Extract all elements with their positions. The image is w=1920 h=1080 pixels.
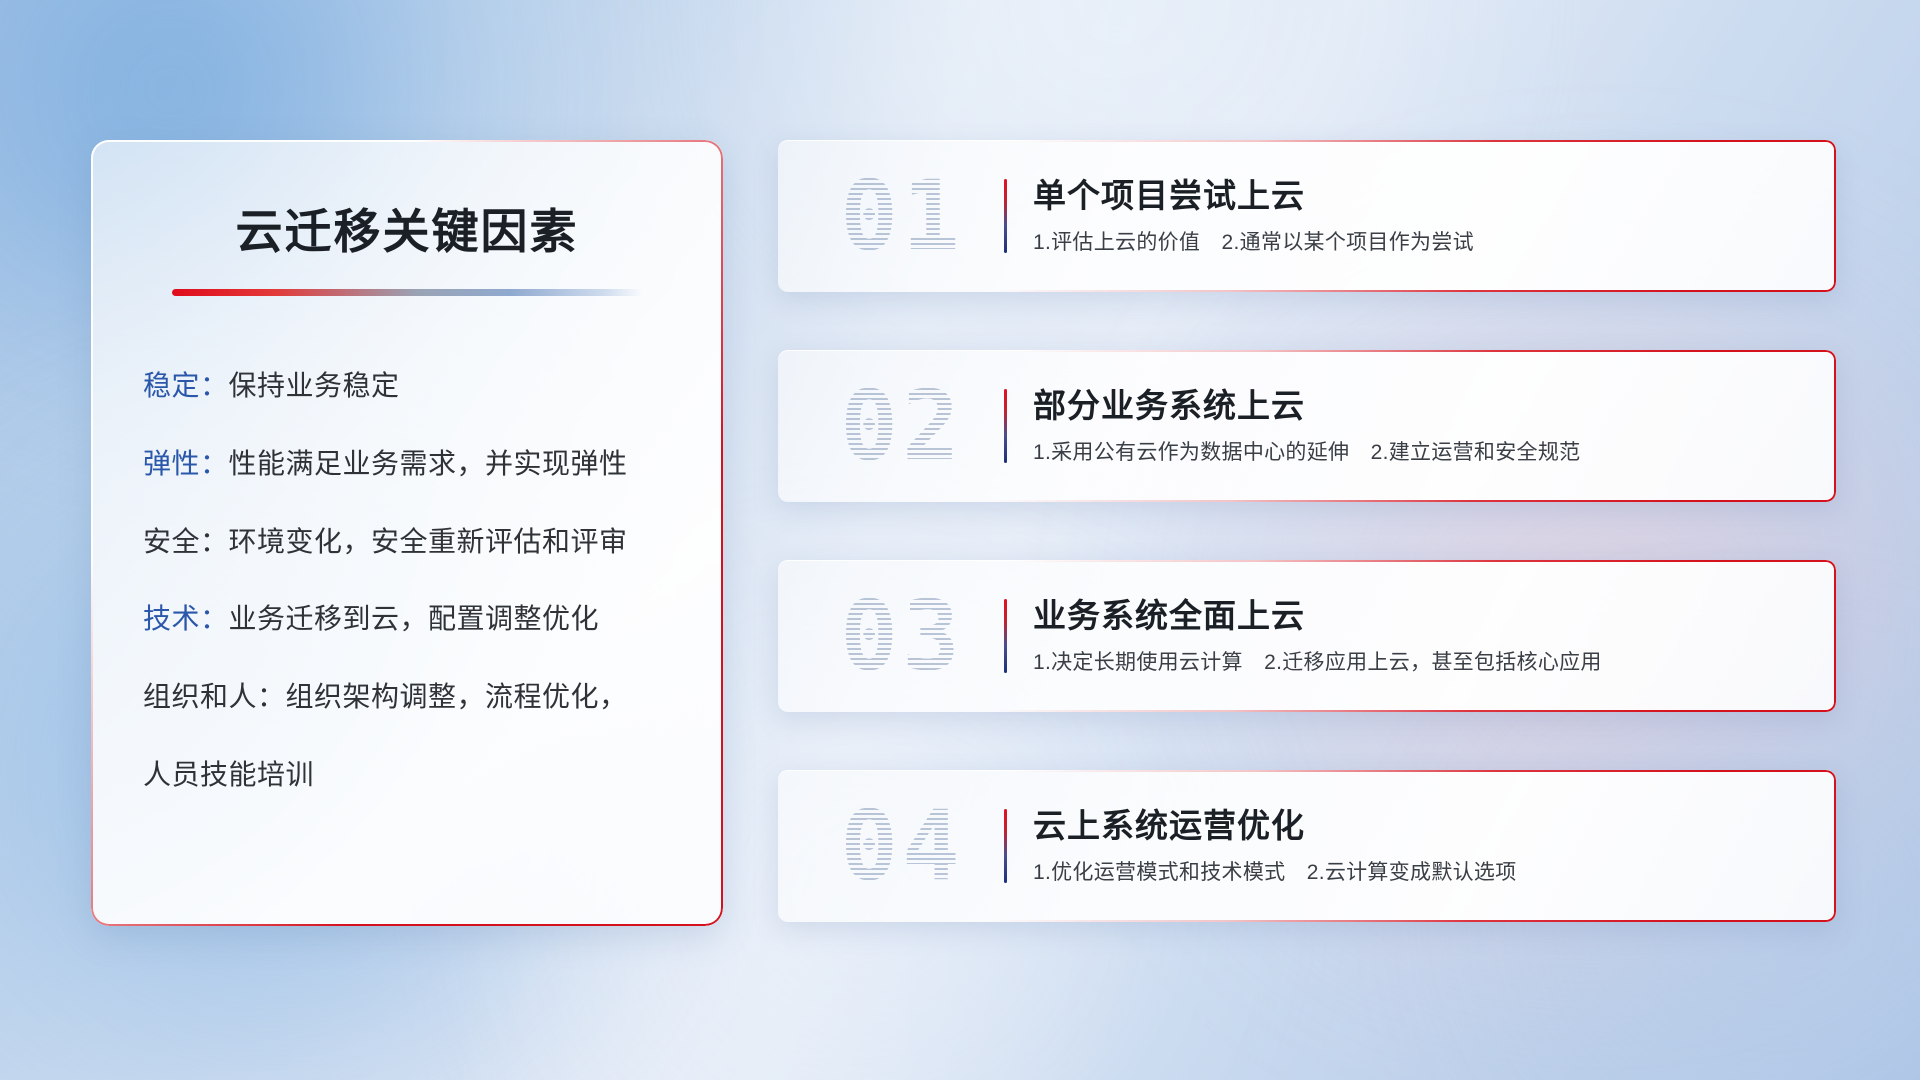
- list-item-key: 技术：: [143, 603, 229, 634]
- list-item-value: 环境变化，安全重新评估和评审: [229, 526, 628, 557]
- page-title: 云迁移关键因素: [137, 206, 677, 258]
- key-factors-card: 云迁移关键因素 稳定：保持业务稳定 弹性：性能满足业务需求，并实现弹性 安全：环…: [91, 140, 723, 926]
- list-item-value: 人员技能培训: [143, 759, 314, 790]
- stage-description: 1.评估上云的价值 2.通常以某个项目作为尝试: [1033, 229, 1816, 256]
- list-item: 技术：业务迁移到云，配置调整优化: [143, 599, 671, 639]
- list-item: 组织和人：组织架构调整，流程优化，: [143, 677, 671, 717]
- list-item: 稳定：保持业务稳定: [143, 366, 671, 406]
- stage-description: 1.优化运营模式和技术模式 2.云计算变成默认选项: [1033, 859, 1816, 886]
- stage-card-list: 01 单个项目尝试上云 1.评估上云的价值 2.通常以某个项目作为尝试 02 部…: [778, 140, 1836, 980]
- stage-divider: [1004, 389, 1007, 463]
- title-underline-rule: [172, 289, 642, 296]
- stage-number: 03: [804, 588, 1000, 684]
- stage-divider: [1004, 599, 1007, 673]
- stage-number: 02: [804, 378, 1000, 474]
- list-item-key: 稳定：: [143, 370, 229, 401]
- stage-card-04[interactable]: 04 云上系统运营优化 1.优化运营模式和技术模式 2.云计算变成默认选项: [778, 770, 1836, 922]
- key-factors-list: 稳定：保持业务稳定 弹性：性能满足业务需求，并实现弹性 安全：环境变化，安全重新…: [137, 366, 677, 795]
- list-item-continuation: 人员技能培训: [143, 755, 671, 795]
- stage-divider: [1004, 809, 1007, 883]
- stage-title: 单个项目尝试上云: [1033, 176, 1816, 216]
- stage-divider: [1004, 179, 1007, 253]
- stage-title: 业务系统全面上云: [1033, 596, 1816, 636]
- list-item: 安全：环境变化，安全重新评估和评审: [143, 522, 671, 562]
- list-item-value: 业务迁移到云，配置调整优化: [229, 603, 600, 634]
- stage-card-03[interactable]: 03 业务系统全面上云 1.决定长期使用云计算 2.迁移应用上云，甚至包括核心应…: [778, 560, 1836, 712]
- stage-number: 01: [804, 168, 1000, 264]
- stage-title: 云上系统运营优化: [1033, 806, 1816, 846]
- list-item-key: 安全：: [143, 526, 229, 557]
- stage-number: 04: [804, 798, 1000, 894]
- list-item-value: 组织架构调整，流程优化，: [286, 681, 628, 712]
- list-item-key: 组织和人：: [143, 681, 286, 712]
- stage-description: 1.决定长期使用云计算 2.迁移应用上云，甚至包括核心应用: [1033, 649, 1816, 676]
- list-item-value: 保持业务稳定: [229, 370, 400, 401]
- list-item: 弹性：性能满足业务需求，并实现弹性: [143, 444, 671, 484]
- list-item-key: 弹性：: [143, 448, 229, 479]
- stage-card-01[interactable]: 01 单个项目尝试上云 1.评估上云的价值 2.通常以某个项目作为尝试: [778, 140, 1836, 292]
- stage-title: 部分业务系统上云: [1033, 386, 1816, 426]
- list-item-value: 性能满足业务需求，并实现弹性: [229, 448, 628, 479]
- stage-card-02[interactable]: 02 部分业务系统上云 1.采用公有云作为数据中心的延伸 2.建立运营和安全规范: [778, 350, 1836, 502]
- stage-description: 1.采用公有云作为数据中心的延伸 2.建立运营和安全规范: [1033, 439, 1816, 466]
